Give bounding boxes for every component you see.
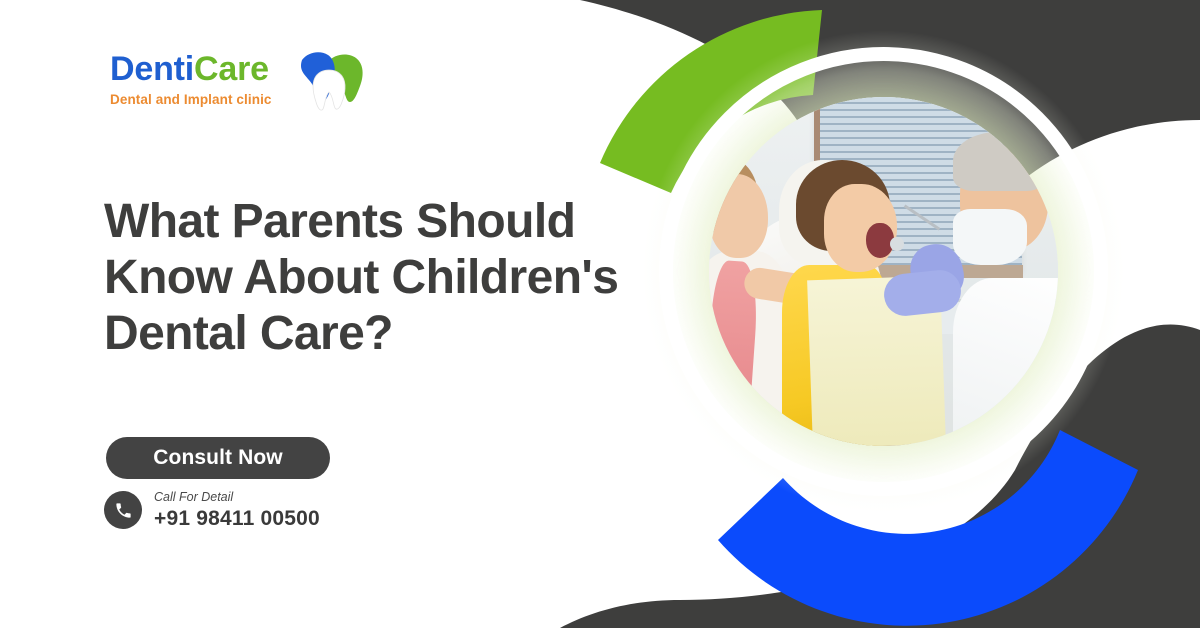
logo-text-denti: Denti bbox=[110, 50, 194, 88]
dental-clinic-banner: DentiCare Dental and Implant clinic What… bbox=[0, 0, 1200, 628]
logo-text-care: Care bbox=[194, 50, 269, 88]
tooth-icon bbox=[290, 50, 368, 112]
page-title: What Parents Should Know About Children'… bbox=[104, 194, 624, 361]
white-ring-border bbox=[659, 47, 1108, 496]
contact-text: Call For Detail +91 98411 00500 bbox=[154, 490, 320, 530]
consult-now-button[interactable]: Consult Now bbox=[106, 437, 330, 479]
contact-block[interactable]: Call For Detail +91 98411 00500 bbox=[104, 490, 320, 530]
decorative-art-composition bbox=[560, 0, 1200, 628]
tooth-white-shape bbox=[313, 70, 345, 110]
brand-logo[interactable]: DentiCare Dental and Implant clinic bbox=[110, 52, 370, 118]
phone-number[interactable]: +91 98411 00500 bbox=[154, 507, 320, 530]
phone-icon[interactable] bbox=[104, 491, 142, 529]
phone-glyph bbox=[114, 501, 133, 520]
content-column: DentiCare Dental and Implant clinic What… bbox=[104, 0, 624, 628]
call-label: Call For Detail bbox=[154, 490, 320, 505]
